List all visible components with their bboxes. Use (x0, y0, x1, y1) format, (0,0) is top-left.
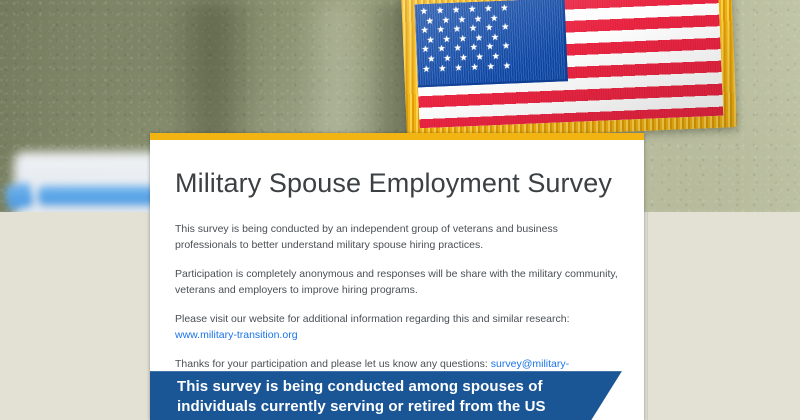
page-divider (647, 212, 648, 420)
flag-stars: ★ ★ ★ ★ ★ ★ ★ ★ ★ ★ ★ ★ ★ ★ ★ ★ ★ ★ ★ ★ … (415, 0, 566, 85)
name-tape-accent (38, 186, 156, 205)
form-website-lead: Please visit our website for additional … (175, 313, 570, 325)
form-accent-bar (150, 133, 644, 140)
form-website-paragraph: Please visit our website for additional … (175, 312, 619, 343)
section-banner-text: This survey is being conducted among spo… (177, 377, 597, 420)
flag-field: ★ ★ ★ ★ ★ ★ ★ ★ ★ ★ ★ ★ ★ ★ ★ ★ ★ ★ ★ ★ … (415, 0, 724, 128)
us-flag-patch-icon: ★ ★ ★ ★ ★ ★ ★ ★ ★ ★ ★ ★ ★ ★ ★ ★ ★ ★ ★ ★ … (401, 0, 737, 141)
form-thanks-lead: Thanks for your participation and please… (175, 358, 488, 370)
form-description-paragraph-1: This survey is being conducted by an ind… (175, 222, 619, 253)
flag-canton: ★ ★ ★ ★ ★ ★ ★ ★ ★ ★ ★ ★ ★ ★ ★ ★ ★ ★ ★ ★ … (415, 0, 568, 87)
google-form-page: ★ ★ ★ ★ ★ ★ ★ ★ ★ ★ ★ ★ ★ ★ ★ ★ ★ ★ ★ ★ … (0, 0, 800, 420)
form-title: Military Spouse Employment Survey (175, 166, 619, 200)
form-card-body: Military Spouse Employment Survey This s… (150, 140, 644, 388)
form-section-banner: This survey is being conducted among spo… (150, 371, 644, 420)
website-link[interactable]: www.military-transition.org (175, 329, 298, 341)
form-description-paragraph-2: Participation is completely anonymous an… (175, 267, 619, 298)
